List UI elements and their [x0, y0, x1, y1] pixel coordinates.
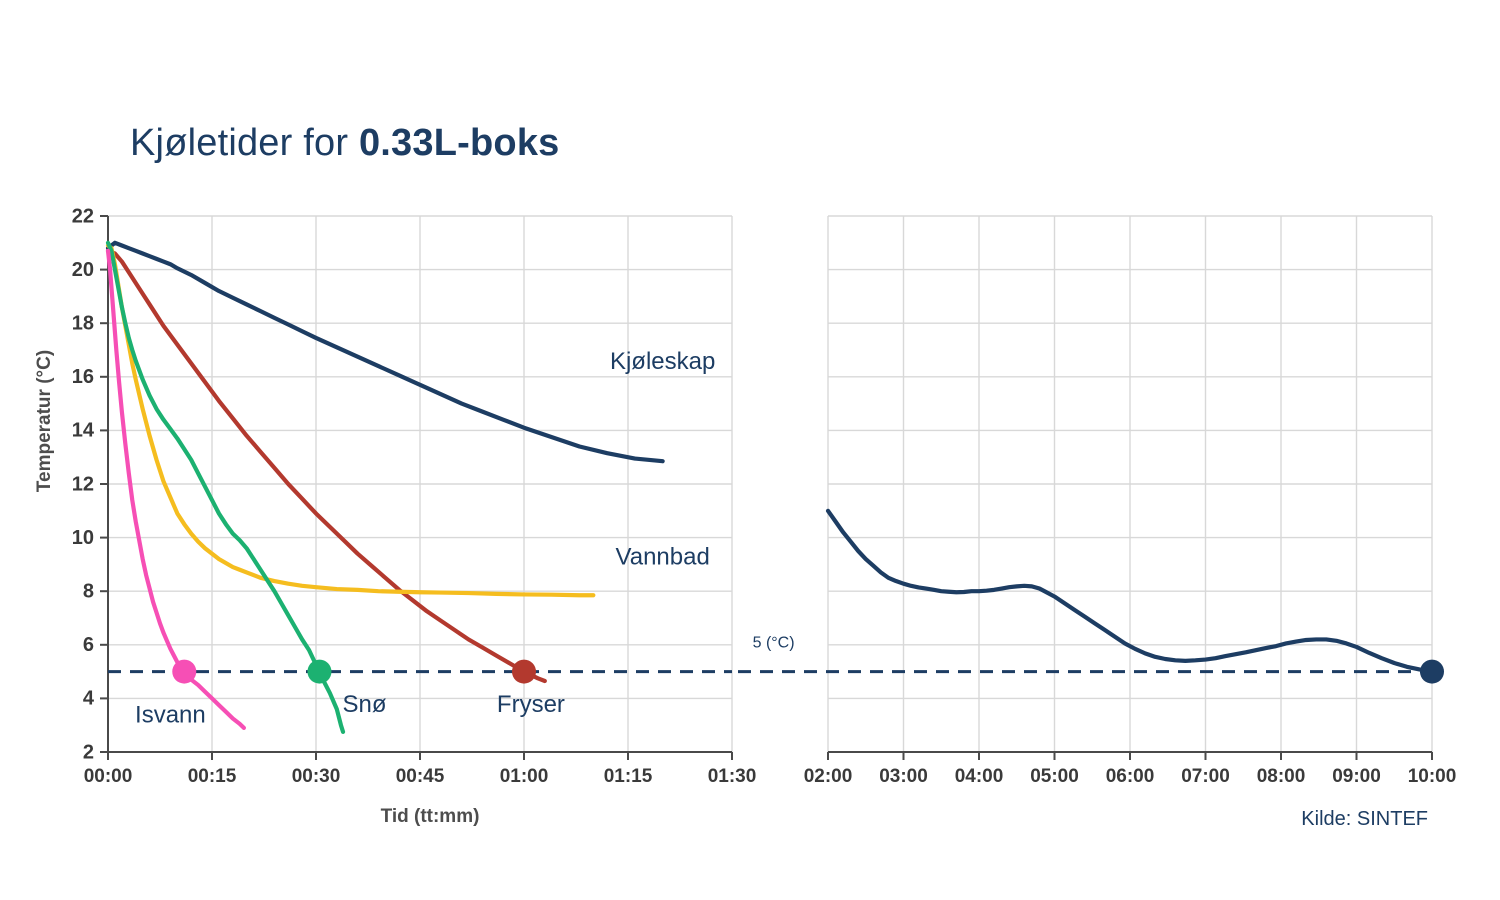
series-label-fryser: Fryser: [497, 691, 565, 718]
y-tick-label: 12: [72, 473, 94, 495]
series-line-isvann: [108, 251, 244, 728]
x-tick-label: 00:30: [292, 766, 341, 787]
x-tick-label: 09:00: [1332, 766, 1381, 787]
y-tick-label: 8: [83, 580, 94, 602]
x-tick-label: 01:30: [708, 766, 757, 787]
x-tick-label: 01:00: [500, 766, 549, 787]
reference-line-label: 5 (°C): [753, 634, 795, 651]
x-tick-label: 04:00: [955, 766, 1004, 787]
x-tick-label: 07:00: [1181, 766, 1230, 787]
endpoint-marker-isvann: [172, 660, 196, 684]
series-line-kjleskap: [108, 243, 663, 461]
x-tick-label: 02:00: [804, 766, 853, 787]
chart-page: Kjøletider for 0.33L-boks Temperatur (°C…: [0, 0, 1500, 900]
y-tick-label: 18: [72, 312, 94, 334]
x-tick-label: 10:00: [1408, 766, 1457, 787]
y-tick-label: 22: [72, 205, 94, 227]
y-tick-label: 2: [83, 741, 94, 763]
series-line-vannbad: [108, 245, 593, 595]
y-tick-label: 6: [83, 634, 94, 656]
x-tick-label: 00:15: [188, 766, 237, 787]
endpoint-marker-fryser: [512, 660, 536, 684]
series-line-fryser: [108, 251, 545, 681]
endpoint-marker-kjleskap: [1420, 660, 1444, 684]
y-tick-label: 14: [72, 420, 95, 442]
y-tick-label: 4: [83, 688, 95, 710]
x-tick-label: 06:00: [1106, 766, 1155, 787]
series-label-isvann: Isvann: [135, 702, 206, 729]
series-line-sn: [108, 243, 343, 732]
series-label-vannbad: Vannbad: [616, 543, 710, 570]
chart-plot-area: 24681012141618202200:0000:1500:3000:4501…: [0, 0, 1500, 900]
x-tick-label: 01:15: [604, 766, 653, 787]
y-tick-label: 20: [72, 259, 94, 281]
endpoint-marker-sn: [307, 660, 331, 684]
y-tick-label: 16: [72, 366, 94, 388]
x-tick-label: 03:00: [879, 766, 928, 787]
x-tick-label: 08:00: [1257, 766, 1306, 787]
y-tick-label: 10: [72, 527, 94, 549]
x-tick-label: 05:00: [1030, 766, 1079, 787]
x-tick-label: 00:00: [84, 766, 133, 787]
x-tick-label: 00:45: [396, 766, 445, 787]
series-label-sno: Snø: [343, 691, 387, 718]
series-label-kjoleskap: Kjøleskap: [610, 348, 715, 375]
